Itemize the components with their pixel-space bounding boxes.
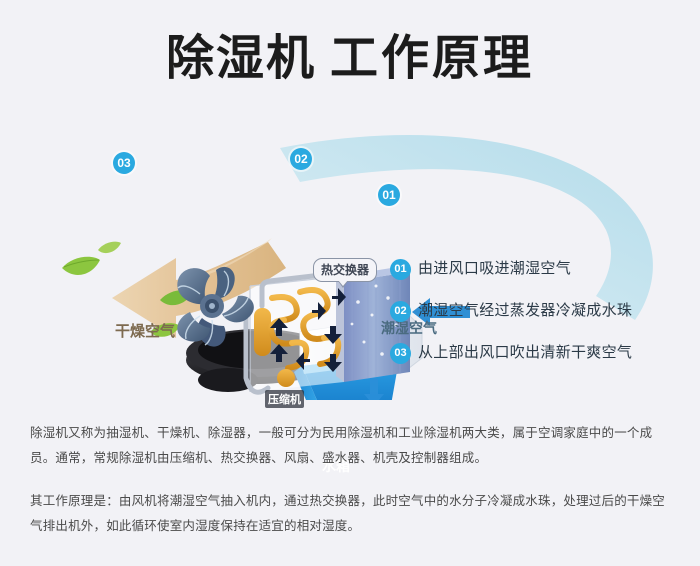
step-item-02: 02 潮湿空气经过蒸发器冷凝成水珠 <box>390 297 690 339</box>
step-badge-01: 01 <box>390 259 411 280</box>
page-title-part-1: 除湿机 <box>166 30 316 86</box>
step-text-03: 从上部出风口吹出清新干爽空气 <box>418 341 632 362</box>
callout-badge-heat-exchanger: 02 <box>290 148 312 170</box>
callout-label-heat-exchanger: 热交换器 <box>313 258 377 282</box>
page-title: 除湿机工作原理 <box>0 32 700 85</box>
step-text-01: 由进风口吸进潮湿空气 <box>418 257 571 278</box>
compressor-assembly <box>246 274 346 392</box>
step-text-02: 潮湿空气经过蒸发器冷凝成水珠 <box>418 299 632 320</box>
description-paragraph-1: 除湿机又称为抽湿机、干燥机、除湿器，一般可分为民用除湿机和工业除湿机两大类，属于… <box>30 420 675 470</box>
callout-badge-dry-air: 03 <box>113 152 135 174</box>
callout-label-dry-air: 干燥空气 <box>115 320 175 341</box>
steps-list: 01 由进风口吸进潮湿空气 02 潮湿空气经过蒸发器冷凝成水珠 03 从上部出风… <box>390 255 690 381</box>
page-title-part-2: 工作原理 <box>330 30 534 86</box>
step-badge-03: 03 <box>390 343 411 364</box>
callout-badge-humid-air: 01 <box>378 184 400 206</box>
step-badge-02: 02 <box>390 301 411 322</box>
step-item-03: 03 从上部出风口吹出清新干爽空气 <box>390 339 690 381</box>
description-block: 除湿机又称为抽湿机、干燥机、除湿器，一般可分为民用除湿机和工业除湿机两大类，属于… <box>30 420 675 538</box>
dehumidifier-infographic: 除湿机工作原理 <box>0 0 700 566</box>
step-item-01: 01 由进风口吸进潮湿空气 <box>390 255 690 297</box>
description-paragraph-2: 其工作原理是：由风机将潮湿空气抽入机内，通过热交换器，此时空气中的水分子冷凝成水… <box>30 488 675 538</box>
part-label-compressor: 压缩机 <box>265 390 304 408</box>
